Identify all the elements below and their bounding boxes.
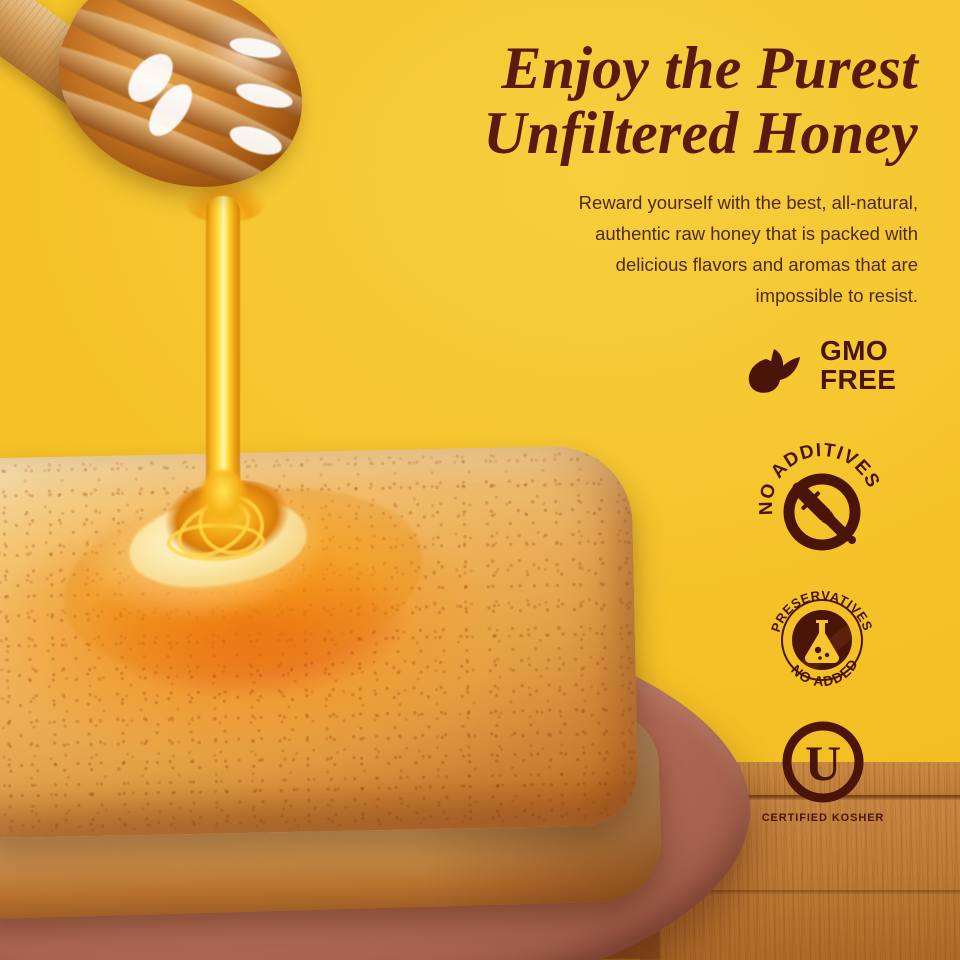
honey-product-ad: Enjoy the Purest Unfiltered Honey Reward… bbox=[0, 0, 960, 960]
subcopy-line-1: Reward yourself with the best, all-natur… bbox=[418, 187, 918, 218]
badge-no-additives: NO ADDITIVES bbox=[760, 442, 884, 566]
syringe-prohibited-icon bbox=[789, 479, 860, 550]
kosher-u-mark: U bbox=[805, 735, 841, 791]
gmo-line-2: FREE bbox=[820, 366, 896, 395]
certification-badges: GMO FREE bbox=[744, 330, 924, 824]
toast-slice-top bbox=[0, 445, 639, 839]
subcopy-line-3: delicious flavors and aromas that are bbox=[418, 249, 918, 280]
headline-line-2: Unfiltered Honey bbox=[418, 101, 918, 166]
honey-dipper bbox=[0, 0, 360, 252]
gmo-line-1: GMO bbox=[820, 337, 896, 366]
subcopy-line-2: authentic raw honey that is packed with bbox=[418, 218, 918, 249]
badge-no-added-preservatives: PRESERVATIVES NO ADDED bbox=[766, 584, 878, 696]
headline-line-1: Enjoy the Purest bbox=[418, 36, 918, 101]
page-title: Enjoy the Purest Unfiltered Honey bbox=[418, 36, 918, 167]
toast-crust-edge bbox=[0, 445, 639, 839]
circled-u-icon: U bbox=[779, 718, 867, 806]
honey-stream-landing bbox=[196, 470, 250, 540]
leaves-icon bbox=[744, 335, 806, 397]
subcopy: Reward yourself with the best, all-natur… bbox=[418, 187, 918, 311]
subcopy-line-4: impossible to resist. bbox=[418, 280, 918, 311]
badge-certified-kosher: U CERTIFIED KOSHER bbox=[758, 718, 888, 824]
badge-gmo-free: GMO FREE bbox=[744, 330, 924, 402]
copy-block: Enjoy the Purest Unfiltered Honey Reward… bbox=[418, 36, 918, 311]
gmo-free-text: GMO FREE bbox=[820, 337, 896, 394]
kosher-label: CERTIFIED KOSHER bbox=[758, 812, 888, 824]
dipper-head bbox=[26, 0, 337, 227]
